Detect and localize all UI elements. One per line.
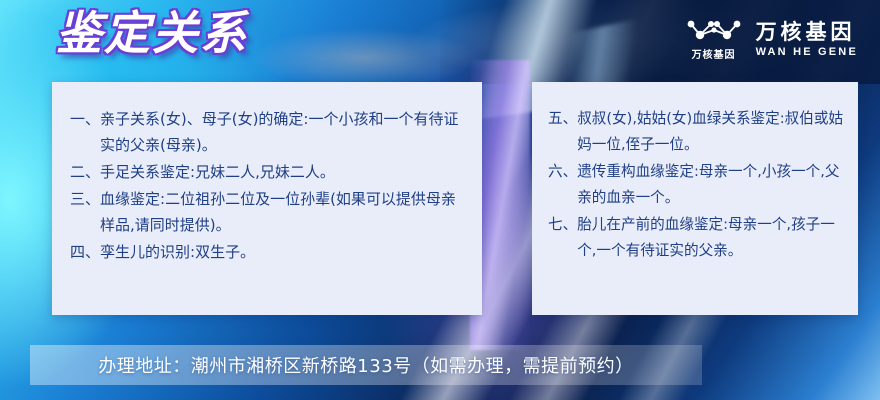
logo-name-cn: 万核基因 xyxy=(756,21,856,44)
service-list-panel-right: 五、 叔叔(女),姑姑(女)血绿关系鉴定:叔伯或姑妈一位,侄子一位。 六、 遗传… xyxy=(532,82,858,315)
service-list-panel-left: 一、 亲子关系(女)、母子(女)的确定:一个小孩和一个有待证实的父亲(母亲)。 … xyxy=(52,82,482,315)
list-item-number: 二、 xyxy=(70,159,100,185)
list-item-text: 胎儿在产前的血缘鉴定:母亲一个,孩子一个,一个有待证实的父亲。 xyxy=(577,212,844,264)
logo-mark-caption: 万核基因 xyxy=(692,46,736,61)
content-panels: 一、 亲子关系(女)、母子(女)的确定:一个小孩和一个有待证实的父亲(母亲)。 … xyxy=(52,82,858,315)
list-item-text: 遗传重构血缘鉴定:母亲一个,小孩一个,父亲的血亲一个。 xyxy=(577,159,844,211)
panel-gap xyxy=(482,82,532,315)
address-text: 办理地址：潮州市湘桥区新桥路133号（如需办理，需提前预约） xyxy=(98,352,633,378)
list-item: 六、 遗传重构血缘鉴定:母亲一个,小孩一个,父亲的血亲一个。 xyxy=(548,159,844,211)
logo-name-en: WAN HE GENE xyxy=(756,46,858,58)
list-item-text: 手足关系鉴定:兄妹二人,兄妹二人。 xyxy=(100,159,466,185)
list-item: 七、 胎儿在产前的血缘鉴定:母亲一个,孩子一个,一个有待证实的父亲。 xyxy=(548,212,844,264)
list-item-text: 孪生儿的识别:双生子。 xyxy=(100,239,466,265)
logo-mark: 万核基因 xyxy=(686,18,742,61)
logo-wordmark: 万核基因 WAN HE GENE xyxy=(756,21,858,57)
list-item-text: 叔叔(女),姑姑(女)血绿关系鉴定:叔伯或姑妈一位,侄子一位。 xyxy=(577,106,844,158)
list-item-number: 四、 xyxy=(70,239,100,265)
list-item: 二、 手足关系鉴定:兄妹二人,兄妹二人。 xyxy=(70,159,466,185)
list-item-text: 亲子关系(女)、母子(女)的确定:一个小孩和一个有待证实的父亲(母亲)。 xyxy=(100,106,466,158)
list-item: 五、 叔叔(女),姑姑(女)血绿关系鉴定:叔伯或姑妈一位,侄子一位。 xyxy=(548,106,844,158)
list-item: 一、 亲子关系(女)、母子(女)的确定:一个小孩和一个有待证实的父亲(母亲)。 xyxy=(70,106,466,158)
brand-logo: 万核基因 万核基因 WAN HE GENE xyxy=(686,18,858,61)
list-item-number: 七、 xyxy=(548,212,577,238)
list-item-number: 一、 xyxy=(70,106,100,132)
list-item-number: 三、 xyxy=(70,186,100,212)
list-item: 三、 血缘鉴定:二位祖孙二位及一位孙辈(如果可以提供母亲样品,请同时提供)。 xyxy=(70,186,466,238)
list-item: 四、 孪生儿的识别:双生子。 xyxy=(70,239,466,265)
list-item-text: 血缘鉴定:二位祖孙二位及一位孙辈(如果可以提供母亲样品,请同时提供)。 xyxy=(100,186,466,238)
list-item-number: 六、 xyxy=(548,159,577,185)
molecule-network-icon xyxy=(686,18,742,44)
address-bar: 办理地址：潮州市湘桥区新桥路133号（如需办理，需提前预约） xyxy=(30,345,702,385)
promo-poster: 鉴定关系 xyxy=(0,0,880,400)
list-item-number: 五、 xyxy=(548,106,577,132)
page-title: 鉴定关系 xyxy=(56,10,248,56)
background-warm-glow xyxy=(250,28,480,88)
